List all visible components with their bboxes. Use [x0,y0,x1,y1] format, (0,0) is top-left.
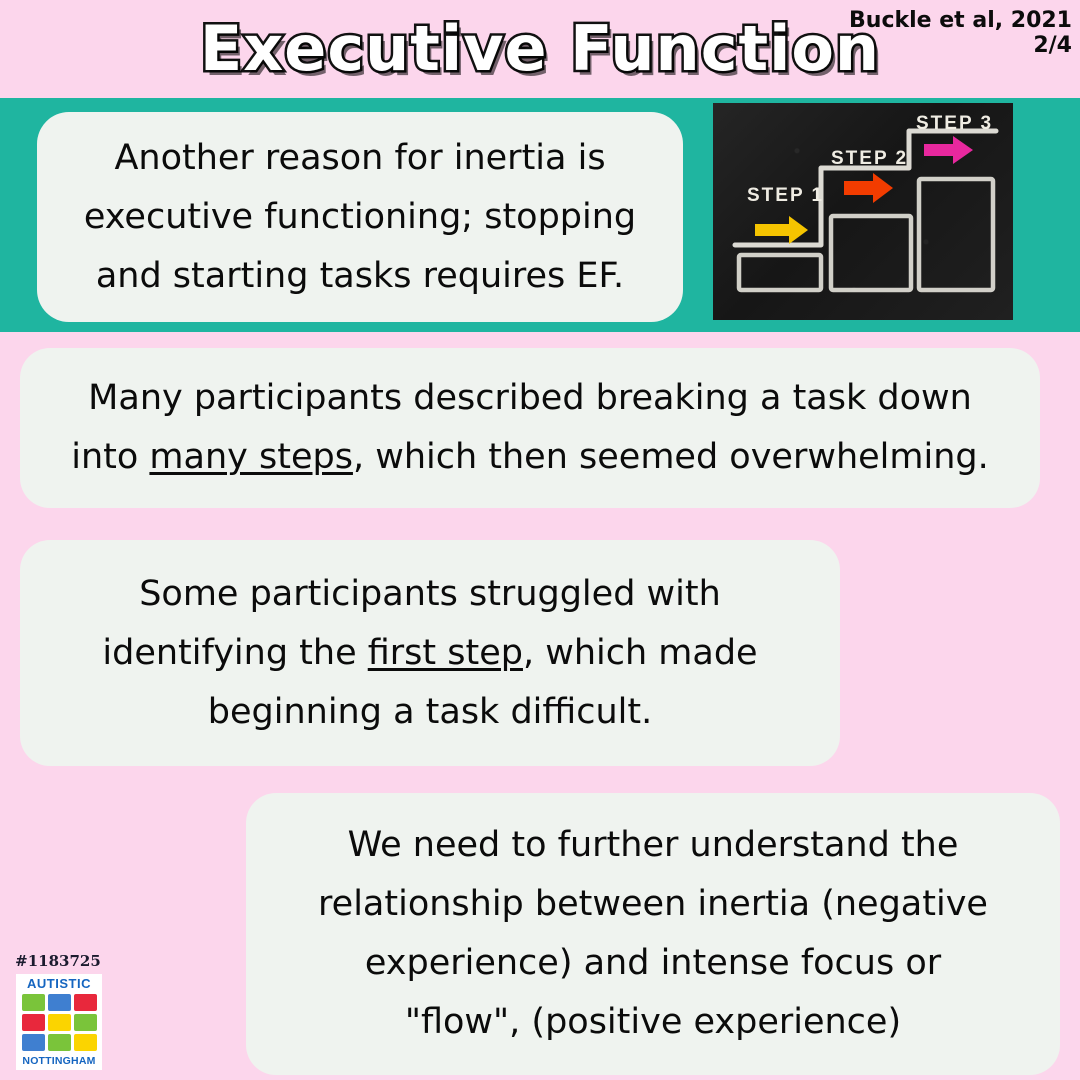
logo-word-bottom: NOTTINGHAM [22,1054,95,1068]
chalkboard-label-step2: STEP 2 [831,148,908,169]
card-flow: We need to further understand the relati… [246,793,1060,1075]
header: Executive Function Buckle et al, 2021 2/… [0,0,1080,98]
card3-line-1: Some participants struggled with [102,565,757,624]
card-many-steps: Many participants described breaking a t… [20,348,1040,508]
chalkboard-svg: STEP 1 STEP 2 STEP 3 [713,103,1013,320]
logo-block: #1183725 AUTISTIC NOTTINGHAM [12,952,104,1070]
arrow-step2-icon [844,173,893,203]
logo-tile-2-1 [48,1034,71,1051]
card-flow-text: We need to further understand the relati… [318,816,988,1052]
card3-emphasis: first step [368,633,523,673]
card2-line-2: into many steps, which then seemed overw… [71,428,989,487]
chalkboard-label-step1: STEP 1 [747,185,824,206]
citation-source: Buckle et al, 2021 [849,8,1072,33]
logo-tile-2-2 [74,1034,97,1051]
card1-line-3: and starting tasks requires EF. [84,247,636,306]
card2-line-1: Many participants described breaking a t… [71,369,989,428]
logo-tile-0-1 [48,994,71,1011]
card3-line2-after: , which made [523,633,758,673]
chalkboard-label-step3: STEP 3 [916,113,993,134]
chalkboard-steps-image: STEP 1 STEP 2 STEP 3 [713,103,1013,320]
card2-line2-after: , which then seemed overwhelming. [353,437,989,477]
card3-line2-before: identifying the [102,633,367,673]
card4-line-3: experience) and intense focus or [318,934,988,993]
citation: Buckle et al, 2021 2/4 [849,8,1072,58]
arrow-step1-icon [755,216,808,244]
card1-line-1: Another reason for inertia is [84,129,636,188]
card2-line2-before: into [71,437,149,477]
card3-line-3: beginning a task difficult. [102,683,757,742]
card-executive-functioning-text: Another reason for inertia is executive … [84,129,636,306]
card4-line-2: relationship between inertia (negative [318,875,988,934]
logo-tile-0-0 [22,994,45,1011]
card-executive-functioning: Another reason for inertia is executive … [37,112,683,322]
arrow-step3-icon [924,136,973,164]
logo-word-top: AUTISTIC [27,977,91,991]
logo-tile-1-0 [22,1014,45,1031]
citation-page: 2/4 [849,33,1072,58]
logo-tile-0-2 [74,994,97,1011]
logo-tile-1-2 [74,1014,97,1031]
card-many-steps-text: Many participants described breaking a t… [71,369,989,487]
card1-line-2: executive functioning; stopping [84,188,636,247]
logo-hashtag: #1183725 [12,952,104,970]
card3-line-2: identifying the first step, which made [102,624,757,683]
poster-canvas: Executive Function Buckle et al, 2021 2/… [0,0,1080,1080]
card-first-step-text: Some participants struggled with identif… [102,565,757,742]
logo-tile-grid [22,994,97,1051]
card4-line-4: "flow", (positive experience) [318,993,988,1052]
logo-tile-2-0 [22,1034,45,1051]
logo-tile-1-1 [48,1014,71,1031]
card4-line-1: We need to further understand the [318,816,988,875]
autistic-nottingham-logo: AUTISTIC NOTTINGHAM [16,974,102,1070]
card-first-step: Some participants struggled with identif… [20,540,840,766]
card2-emphasis: many steps [149,437,353,477]
